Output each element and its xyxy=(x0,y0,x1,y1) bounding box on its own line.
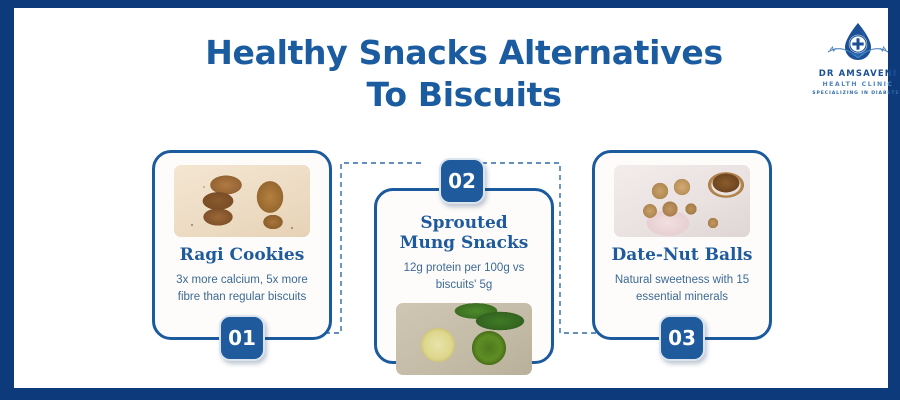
card-body: 3x more calcium, 5x more fibre than regu… xyxy=(169,272,315,306)
water-drop-medical-cross-icon xyxy=(806,20,900,68)
logo-clinic-tagline: SPECIALIZING IN DIABETES xyxy=(806,91,900,96)
infographic-poster: Healthy Snacks Alternatives To Biscuits xyxy=(0,0,900,400)
snack-card-ragi-cookies[interactable]: Ragi Cookies 3x more calcium, 5x more fi… xyxy=(152,150,332,340)
date-nut-balls-photo xyxy=(614,165,750,237)
ragi-cookies-photo xyxy=(174,165,310,237)
card-heading: Date-Nut Balls xyxy=(609,245,755,265)
clinic-logo: DR AMSAVENI HEALTH CLINIC SPECIALIZING I… xyxy=(806,20,900,102)
card-body: Natural sweetness with 15 essential mine… xyxy=(609,272,755,306)
card-heading: Ragi Cookies xyxy=(169,245,315,265)
logo-clinic-name: DR AMSAVENI xyxy=(806,69,900,79)
poster-canvas: Healthy Snacks Alternatives To Biscuits xyxy=(14,8,888,388)
step-badge-01: 01 xyxy=(219,315,265,361)
snack-card-sprouted-mung[interactable]: Sprouted Mung Snacks 12g protein per 100… xyxy=(374,188,554,364)
step-badge-03: 03 xyxy=(659,315,705,361)
page-title: Healthy Snacks Alternatives To Biscuits xyxy=(124,32,804,116)
snack-card-date-nut-balls[interactable]: Date-Nut Balls Natural sweetness with 15… xyxy=(592,150,772,340)
page-title-line-2: To Biscuits xyxy=(367,75,562,114)
page-title-line-1: Healthy Snacks Alternatives xyxy=(205,33,723,72)
logo-clinic-subtitle: HEALTH CLINIC xyxy=(806,81,900,88)
sprouted-mung-photo xyxy=(396,303,532,375)
card-body: 12g protein per 100g vs biscuits' 5g xyxy=(391,260,537,294)
step-badge-02: 02 xyxy=(439,158,485,204)
card-heading: Sprouted Mung Snacks xyxy=(391,213,537,253)
